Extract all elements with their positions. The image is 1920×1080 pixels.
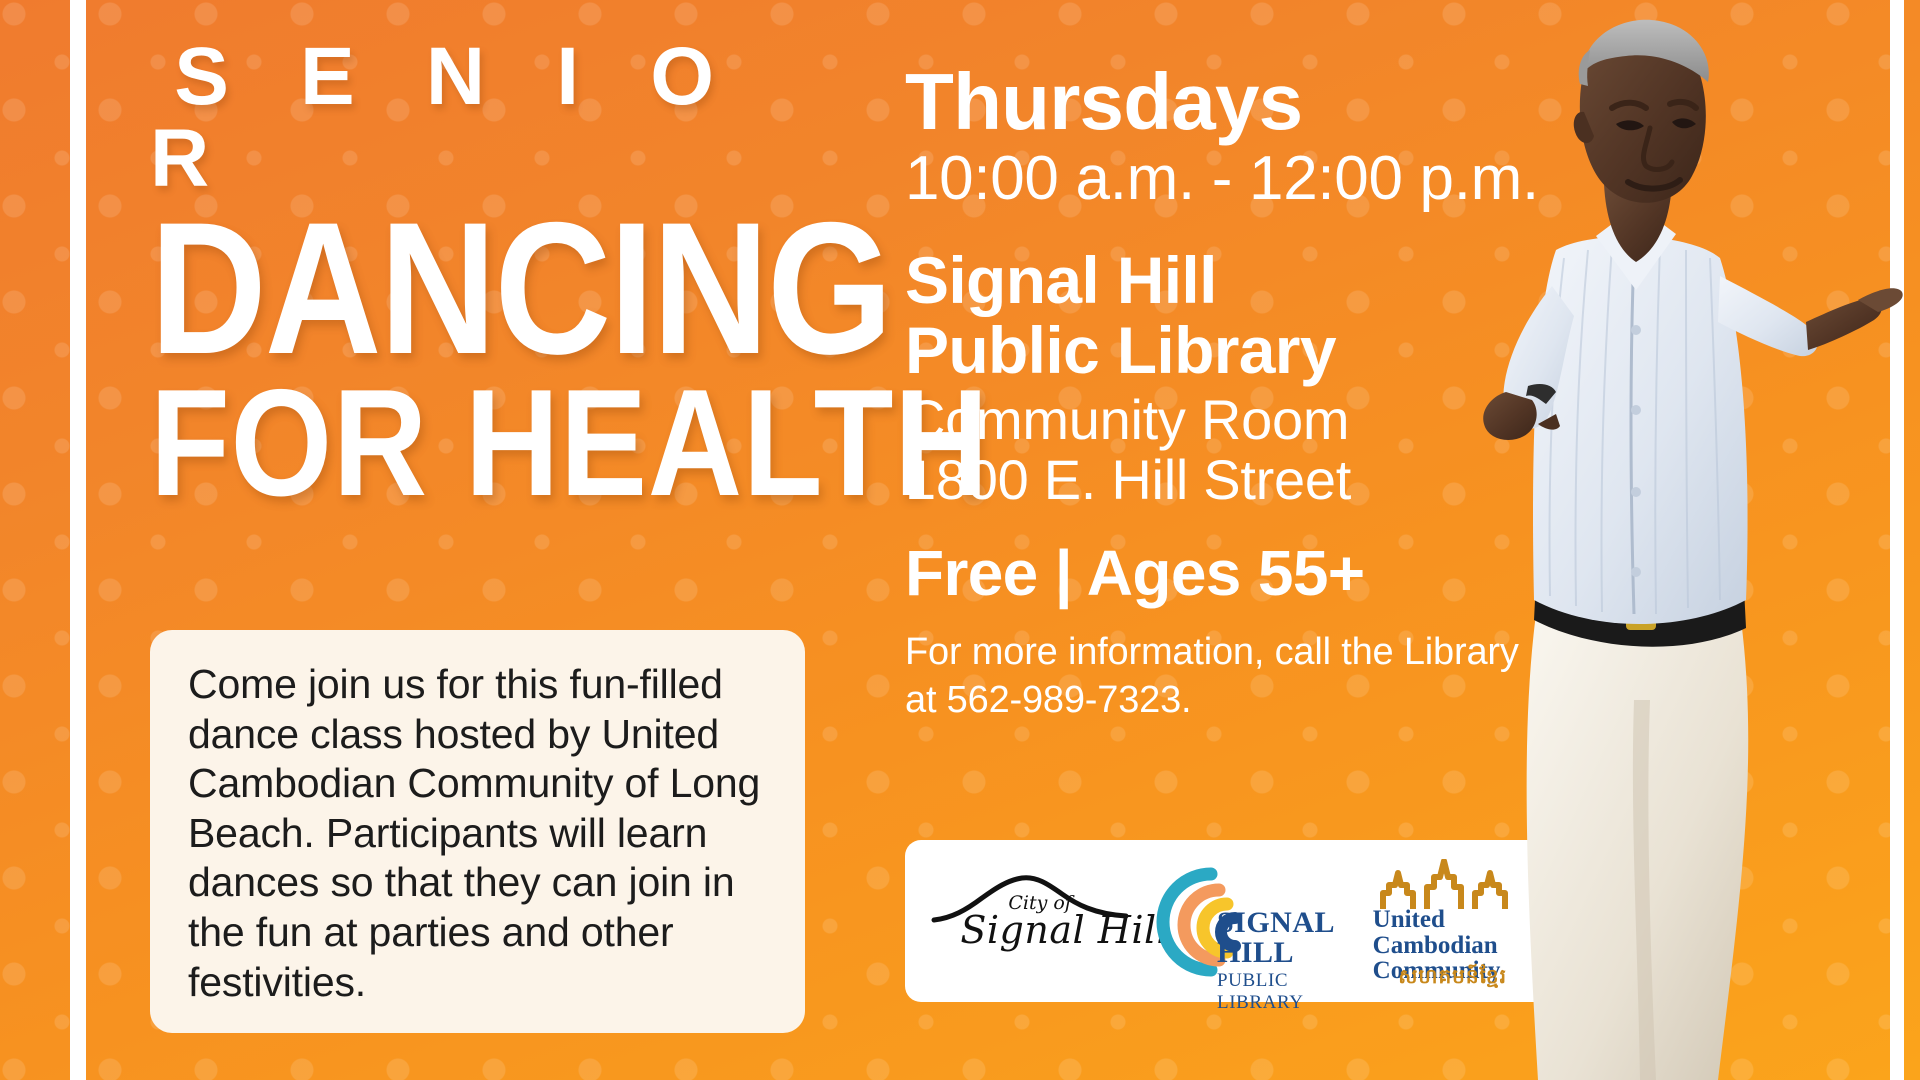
description-card: Come join us for this fun-filled dance c… [150, 630, 805, 1033]
logo-city-of-signal-hill: City of Signal Hill [930, 862, 1130, 980]
dancing-senior-photo [1388, 0, 1908, 1080]
poster-canvas: S E N I O R DANCING FOR HEALTH Come join… [0, 0, 1920, 1080]
library-logo-title: SIGNAL HILL [1217, 908, 1350, 968]
frame-line-left [70, 0, 86, 1080]
library-logo-subtitle: PUBLIC LIBRARY [1217, 970, 1350, 1014]
signal-hill-script-label: Signal Hill [960, 908, 1169, 952]
title-line-dancing: DANCING [150, 206, 743, 371]
kicker-senior: S E N I O R [150, 36, 840, 200]
headline-group: S E N I O R DANCING FOR HEALTH [150, 36, 840, 511]
title-line-for-health: FOR HEALTH [150, 377, 743, 511]
logo-signal-hill-public-library: SIGNAL HILL PUBLIC LIBRARY [1145, 862, 1350, 980]
description-text: Come join us for this fun-filled dance c… [188, 660, 771, 1007]
